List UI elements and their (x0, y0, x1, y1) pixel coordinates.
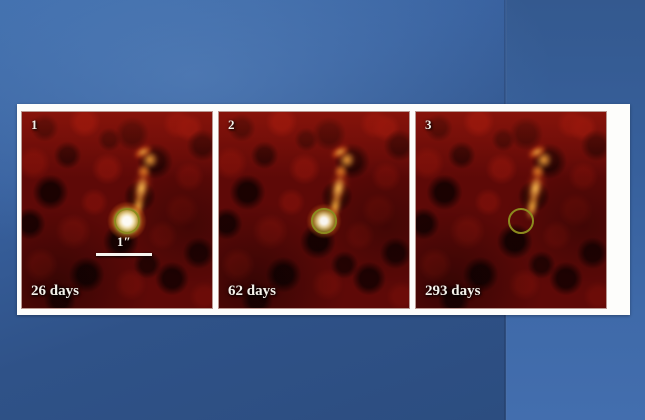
image-panel-1[interactable]: 1 1″ 26 days (22, 112, 212, 308)
panel-number-label: 3 (425, 118, 432, 131)
image-panel-2[interactable]: 2 62 days (219, 112, 409, 308)
aperture-circle-icon (508, 208, 534, 234)
scale-bar-line (96, 253, 152, 256)
sky-noise-background (219, 112, 409, 308)
panel-number-label: 2 (228, 118, 235, 131)
sky-noise-background (416, 112, 606, 308)
panel-epoch-caption: 293 days (425, 284, 480, 299)
panel-number-label: 1 (31, 118, 38, 131)
panel-epoch-caption: 26 days (31, 284, 79, 299)
scale-bar: 1″ (96, 235, 152, 255)
slide-canvas: 1 1″ 26 days 2 62 days (0, 0, 645, 420)
panel-epoch-caption: 62 days (228, 284, 276, 299)
sky-noise-background (22, 112, 212, 308)
aperture-circle-icon (114, 208, 140, 234)
aperture-circle-icon (311, 208, 337, 234)
figure-image-frame: 1 1″ 26 days 2 62 days (17, 104, 630, 315)
image-panel-3[interactable]: 3 293 days (416, 112, 606, 308)
scale-bar-label: 1″ (96, 235, 152, 249)
